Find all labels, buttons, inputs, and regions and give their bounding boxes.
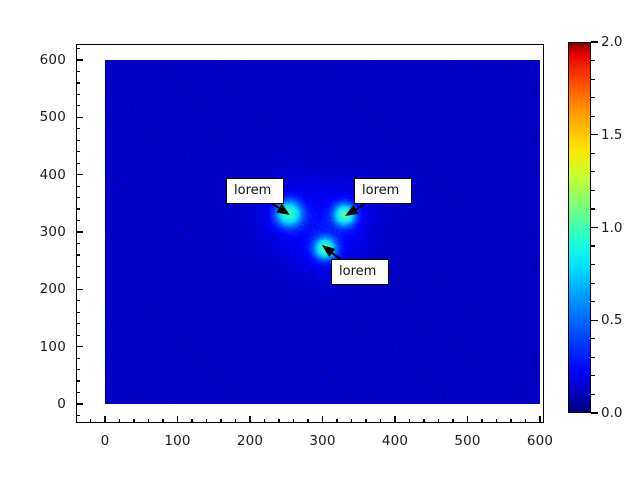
colorbar-minor-tick [591, 245, 595, 246]
x-axis-minor-tick [452, 419, 453, 423]
y-axis-minor-tick [76, 105, 80, 106]
colorbar-tick-label: 1.0 [601, 220, 622, 236]
y-axis-minor-tick [76, 140, 80, 141]
x-axis-major-tick [104, 416, 105, 423]
heatmap-image [105, 60, 540, 404]
x-axis-minor-tick [409, 419, 410, 423]
y-axis-minor-tick [76, 392, 80, 393]
colorbar-minor-tick [591, 153, 595, 154]
y-axis-minor-tick [76, 266, 80, 267]
y-axis-minor-tick [76, 71, 80, 72]
x-axis-minor-tick [191, 419, 192, 423]
x-axis-major-tick [322, 416, 323, 423]
y-axis-minor-tick [76, 415, 80, 416]
x-axis-minor-tick [162, 419, 163, 423]
x-axis-tick-label: 600 [510, 433, 570, 449]
x-axis-minor-tick [206, 419, 207, 423]
x-axis-major-tick [249, 416, 250, 423]
y-axis-minor-tick [76, 48, 80, 49]
colorbar-minor-tick [591, 264, 595, 265]
colorbar-minor-tick [591, 283, 595, 284]
colorbar-gradient [568, 42, 591, 413]
x-axis-major-tick [177, 416, 178, 423]
x-axis-minor-tick [90, 419, 91, 423]
x-axis-minor-tick [496, 419, 497, 423]
colorbar-tick-label: 1.5 [601, 127, 622, 143]
y-axis-major-tick [76, 231, 83, 232]
annotation-label-3[interactable]: lorem [331, 259, 389, 285]
y-axis-tick-label: 200 [10, 281, 66, 297]
y-axis-minor-tick [76, 186, 80, 187]
y-axis-major-tick [76, 289, 83, 290]
y-axis-minor-tick [76, 82, 80, 83]
y-axis-minor-tick [76, 312, 80, 313]
y-axis-tick-label: 100 [10, 339, 66, 355]
x-axis-minor-tick [365, 419, 366, 423]
y-axis-major-tick [76, 174, 83, 175]
colorbar-major-tick [591, 41, 598, 42]
y-axis-minor-tick [76, 94, 80, 95]
y-axis-minor-tick [76, 197, 80, 198]
y-axis-minor-tick [76, 358, 80, 359]
colorbar-minor-tick [591, 301, 595, 302]
y-axis-major-tick [76, 117, 83, 118]
figure-canvas: 01002003004005006000100200300400500600 0… [0, 0, 640, 480]
y-axis-minor-tick [76, 243, 80, 244]
y-axis-tick-label: 600 [10, 52, 66, 68]
colorbar-minor-tick [591, 190, 595, 191]
colorbar-minor-tick [591, 357, 595, 358]
y-axis-minor-tick [76, 369, 80, 370]
x-axis-tick-label: 400 [365, 433, 425, 449]
x-axis-minor-tick [351, 419, 352, 423]
colorbar-tick-label: 0.5 [601, 312, 622, 328]
y-axis-minor-tick [76, 163, 80, 164]
x-axis-tick-label: 0 [75, 433, 135, 449]
colorbar-minor-tick [591, 60, 595, 61]
x-axis-minor-tick [235, 419, 236, 423]
y-axis-minor-tick [76, 254, 80, 255]
colorbar-major-tick [591, 227, 598, 228]
x-axis-minor-tick [481, 419, 482, 423]
x-axis-minor-tick [423, 419, 424, 423]
colorbar-major-tick [591, 134, 598, 135]
x-axis-minor-tick [220, 419, 221, 423]
x-axis-tick-label: 200 [220, 433, 280, 449]
y-axis-minor-tick [76, 323, 80, 324]
y-axis-minor-tick [76, 300, 80, 301]
colorbar-major-tick [591, 320, 598, 321]
x-axis-minor-tick [336, 419, 337, 423]
y-axis-minor-tick [76, 380, 80, 381]
x-axis-minor-tick [133, 419, 134, 423]
x-axis-minor-tick [510, 419, 511, 423]
y-axis-major-tick [76, 59, 83, 60]
colorbar-minor-tick [591, 116, 595, 117]
x-axis-tick-label: 100 [148, 433, 208, 449]
y-axis-minor-tick [76, 151, 80, 152]
colorbar-minor-tick [591, 375, 595, 376]
y-axis-major-tick [76, 346, 83, 347]
y-axis-minor-tick [76, 208, 80, 209]
y-axis-minor-tick [76, 128, 80, 129]
y-axis-minor-tick [76, 220, 80, 221]
x-axis-tick-label: 300 [293, 433, 353, 449]
x-axis-minor-tick [119, 419, 120, 423]
colorbar-minor-tick [591, 338, 595, 339]
x-axis-major-tick [539, 416, 540, 423]
annotation-label-2[interactable]: lorem [354, 178, 412, 204]
x-axis-minor-tick [307, 419, 308, 423]
colorbar-tick-label: 2.0 [601, 34, 622, 50]
x-axis-minor-tick [380, 419, 381, 423]
colorbar-minor-tick [591, 171, 595, 172]
colorbar-minor-tick [591, 208, 595, 209]
x-axis-major-tick [467, 416, 468, 423]
colorbar [568, 42, 591, 413]
x-axis-major-tick [394, 416, 395, 423]
colorbar-minor-tick [591, 394, 595, 395]
x-axis-minor-tick [293, 419, 294, 423]
y-axis-major-tick [76, 403, 83, 404]
x-axis-minor-tick [148, 419, 149, 423]
y-axis-tick-label: 400 [10, 167, 66, 183]
x-axis-tick-label: 500 [438, 433, 498, 449]
y-axis-minor-tick [76, 277, 80, 278]
colorbar-minor-tick [591, 97, 595, 98]
y-axis-minor-tick [76, 335, 80, 336]
heatmap-canvas [105, 60, 540, 404]
x-axis-minor-tick [278, 419, 279, 423]
y-axis-tick-label: 0 [10, 396, 66, 412]
y-axis-tick-label: 300 [10, 224, 66, 240]
colorbar-major-tick [591, 412, 598, 413]
annotation-label-1[interactable]: lorem [226, 178, 284, 204]
colorbar-tick-label: 0.0 [601, 405, 622, 421]
y-axis-tick-label: 500 [10, 109, 66, 125]
x-axis-minor-tick [438, 419, 439, 423]
colorbar-minor-tick [591, 79, 595, 80]
x-axis-minor-tick [525, 419, 526, 423]
x-axis-minor-tick [264, 419, 265, 423]
